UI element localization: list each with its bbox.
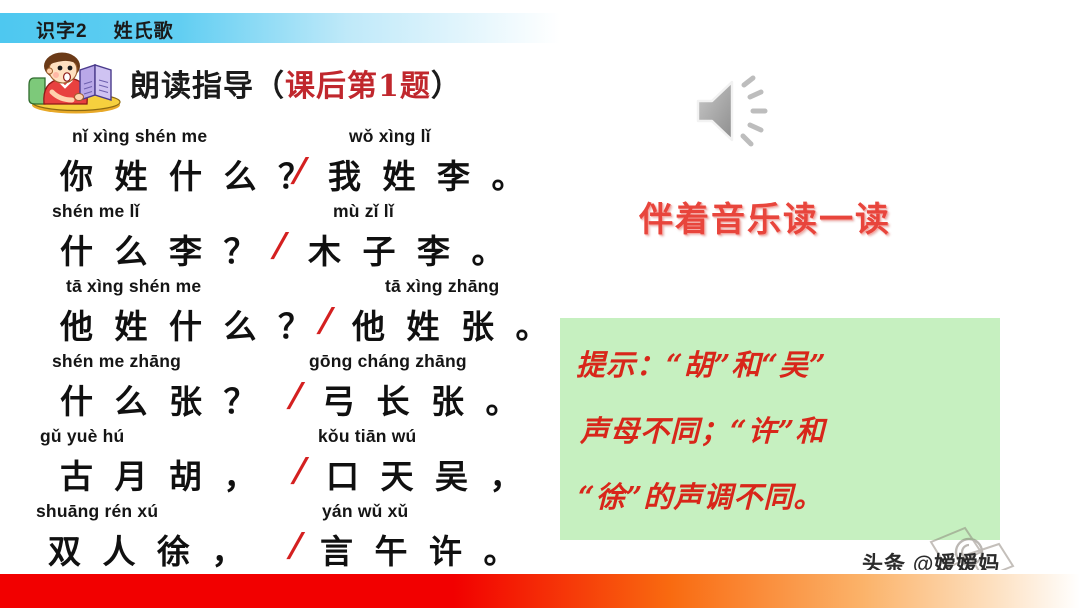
pinyin-right: wǒ xìng lǐ xyxy=(349,126,431,147)
hanzi-row: 什 么 张 ？ / 弓 长 张 。 xyxy=(0,375,566,423)
speaker-sound-icon[interactable] xyxy=(692,68,788,152)
hanzi-right: 口 天 吴 ， xyxy=(326,450,527,498)
tip-box: 提示：“胡”和“吴” 声母不同；“许”和 “徐”的声调不同。 xyxy=(560,318,1000,540)
hanzi-row: 你 姓 什 么 ？ / 我 姓 李 。 xyxy=(0,150,566,198)
hanzi-left: 双 人 徐 ， xyxy=(48,525,249,573)
pinyin-left: shén me zhāng xyxy=(52,351,181,372)
music-prompt: 伴着音乐读一读 xyxy=(605,192,925,241)
bottom-bar xyxy=(0,574,1080,608)
pinyin-row: gǔ yuè hú kǒu tiān wú xyxy=(0,426,566,450)
page-title-note: 课后第1题 xyxy=(285,69,431,104)
pause-slash: / xyxy=(313,300,344,339)
pinyin-left: tā xìng shén me xyxy=(66,276,201,297)
poem-line: nǐ xìng shén me wǒ xìng lǐ 你 姓 什 么 ？ / 我… xyxy=(0,126,566,201)
section-title-row: 朗读指导（课后第1题） xyxy=(22,52,462,114)
page-title-main: 朗读指导 xyxy=(130,69,254,104)
hanzi-left: 什 么 张 ？ xyxy=(60,375,261,423)
poem-line: tā xìng shén me tā xìng zhāng 他 姓 什 么 ？ … xyxy=(0,276,566,351)
poem-block: nǐ xìng shén me wǒ xìng lǐ 你 姓 什 么 ？ / 我… xyxy=(0,126,566,576)
hanzi-right: 我 姓 李 。 xyxy=(328,150,529,198)
hanzi-right: 言 午 许 。 xyxy=(320,525,521,573)
hanzi-right: 木 子 李 。 xyxy=(308,225,509,273)
pinyin-left: gǔ yuè hú xyxy=(40,426,124,447)
tip-line: “徐”的声调不同。 xyxy=(576,464,984,530)
pinyin-left: shuāng rén xú xyxy=(36,501,158,522)
poem-line: gǔ yuè hú kǒu tiān wú 古 月 胡 ， / 口 天 吴 ， xyxy=(0,426,566,501)
pinyin-row: tā xìng shén me tā xìng zhāng xyxy=(0,276,566,300)
poem-line: shuāng rén xú yán wǔ xǔ 双 人 徐 ， / 言 午 许 … xyxy=(0,501,566,576)
page-title: 朗读指导（课后第1题） xyxy=(130,61,462,105)
banner-title-group: 识字2姓氏歌 xyxy=(36,16,174,43)
tip-line: 提示：“胡”和“吴” xyxy=(576,332,984,398)
hanzi-row: 古 月 胡 ， / 口 天 吴 ， xyxy=(0,450,566,498)
pinyin-row: shuāng rén xú yán wǔ xǔ xyxy=(0,501,566,525)
hanzi-right: 弓 长 张 。 xyxy=(322,375,523,423)
pinyin-row: shén me zhāng gōng cháng zhāng xyxy=(0,351,566,375)
pinyin-left: shén me lǐ xyxy=(52,201,140,222)
pause-slash: / xyxy=(287,450,318,489)
hanzi-row: 双 人 徐 ， / 言 午 许 。 xyxy=(0,525,566,573)
pinyin-right: mù zǐ lǐ xyxy=(333,201,394,222)
hanzi-row: 他 姓 什 么 ？ / 他 姓 张 。 xyxy=(0,300,566,348)
hanzi-left: 什 么 李 ？ xyxy=(60,225,261,273)
pinyin-left: nǐ xìng shén me xyxy=(72,126,207,147)
pinyin-row: nǐ xìng shén me wǒ xìng lǐ xyxy=(0,126,566,150)
pause-slash: / xyxy=(267,225,298,264)
paren-close: ） xyxy=(431,69,462,104)
pinyin-right: tā xìng zhāng xyxy=(385,276,499,297)
pinyin-right: gōng cháng zhāng xyxy=(309,351,467,372)
tip-line: 声母不同；“许”和 xyxy=(576,398,984,464)
pause-slash: / xyxy=(283,525,314,564)
hanzi-left: 你 姓 什 么 ？ xyxy=(60,150,316,198)
pinyin-right: yán wǔ xǔ xyxy=(322,501,408,522)
boy-reading-icon xyxy=(22,52,126,114)
hanzi-row: 什 么 李 ？ / 木 子 李 。 xyxy=(0,225,566,273)
pause-slash: / xyxy=(283,375,314,414)
hanzi-left: 他 姓 什 么 ？ xyxy=(60,300,316,348)
paren-open: （ xyxy=(254,69,285,104)
lesson-number: 识字2 xyxy=(36,21,88,42)
slide-canvas: 识字2姓氏歌 xyxy=(0,0,1080,608)
hanzi-right: 他 姓 张 。 xyxy=(352,300,553,348)
hanzi-left: 古 月 胡 ， xyxy=(60,450,261,498)
poem-line: shén me zhāng gōng cháng zhāng 什 么 张 ？ /… xyxy=(0,351,566,426)
poem-line: shén me lǐ mù zǐ lǐ 什 么 李 ？ / 木 子 李 。 xyxy=(0,201,566,276)
lesson-title: 姓氏歌 xyxy=(114,21,174,42)
pinyin-right: kǒu tiān wú xyxy=(318,426,416,447)
pinyin-row: shén me lǐ mù zǐ lǐ xyxy=(0,201,566,225)
